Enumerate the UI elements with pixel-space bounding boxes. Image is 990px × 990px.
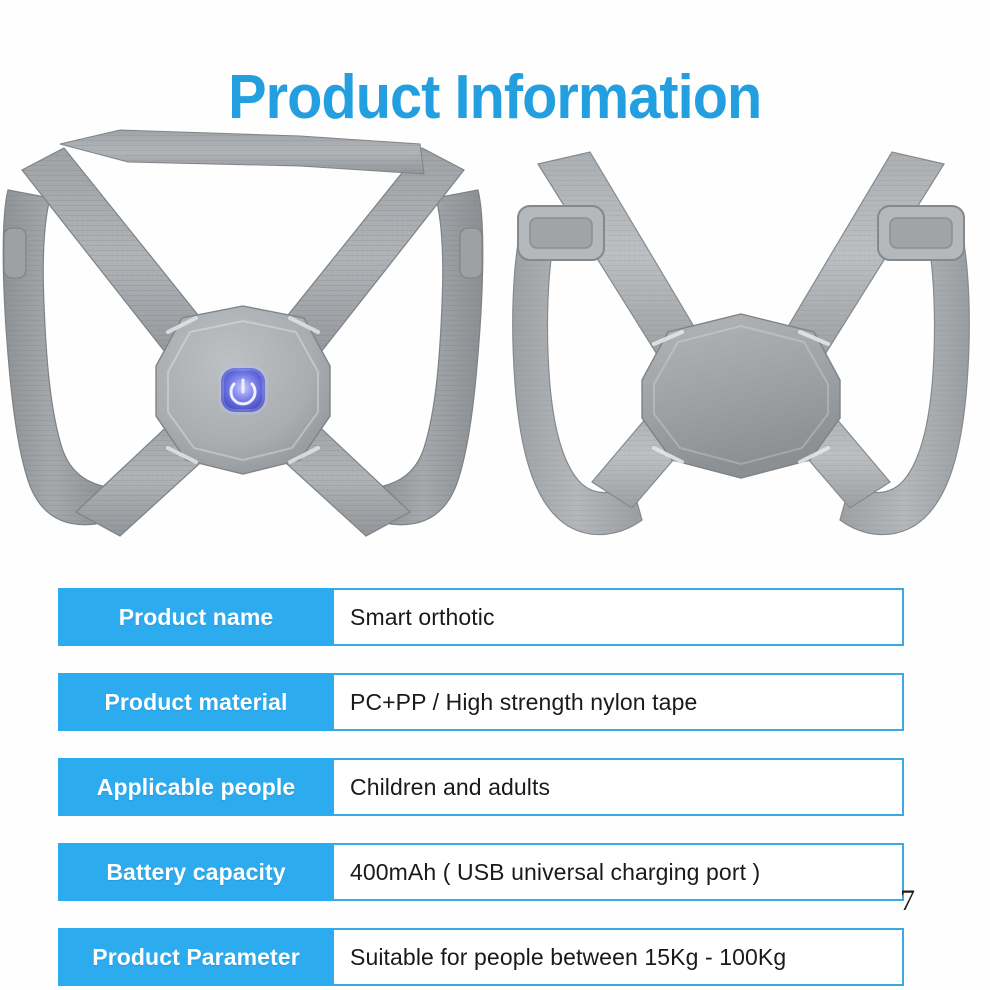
table-row: Product name Smart orthotic bbox=[58, 588, 904, 646]
spec-value-product-parameter: Suitable for people between 15Kg - 100Kg bbox=[334, 928, 904, 986]
back-plate bbox=[642, 314, 840, 478]
left-slider-buckle bbox=[518, 206, 604, 260]
spec-label-product-material: Product material bbox=[58, 673, 334, 731]
spec-value-battery-capacity: 400mAh ( USB universal charging port ) bbox=[334, 843, 904, 901]
spec-value-applicable-people: Children and adults bbox=[334, 758, 904, 816]
product-photo-back-view bbox=[492, 118, 990, 570]
page-number: 7 bbox=[900, 884, 915, 918]
right-edge-buckle bbox=[460, 228, 482, 278]
product-photo-front-view bbox=[0, 118, 486, 570]
spec-label-battery-capacity: Battery capacity bbox=[58, 843, 334, 901]
spec-label-applicable-people: Applicable people bbox=[58, 758, 334, 816]
spec-value-product-material: PC+PP / High strength nylon tape bbox=[334, 673, 904, 731]
spec-label-product-parameter: Product Parameter bbox=[58, 928, 334, 986]
table-row: Product Parameter Suitable for people be… bbox=[58, 928, 904, 986]
left-edge-buckle bbox=[4, 228, 26, 278]
spec-label-product-name: Product name bbox=[58, 588, 334, 646]
product-image-gallery bbox=[0, 118, 990, 570]
specification-table: Product name Smart orthotic Product mate… bbox=[58, 588, 904, 986]
right-slider-buckle bbox=[878, 206, 964, 260]
table-row: Applicable people Children and adults bbox=[58, 758, 904, 816]
table-row: Battery capacity 400mAh ( USB universal … bbox=[58, 843, 904, 901]
table-row: Product material PC+PP / High strength n… bbox=[58, 673, 904, 731]
spec-value-product-name: Smart orthotic bbox=[334, 588, 904, 646]
